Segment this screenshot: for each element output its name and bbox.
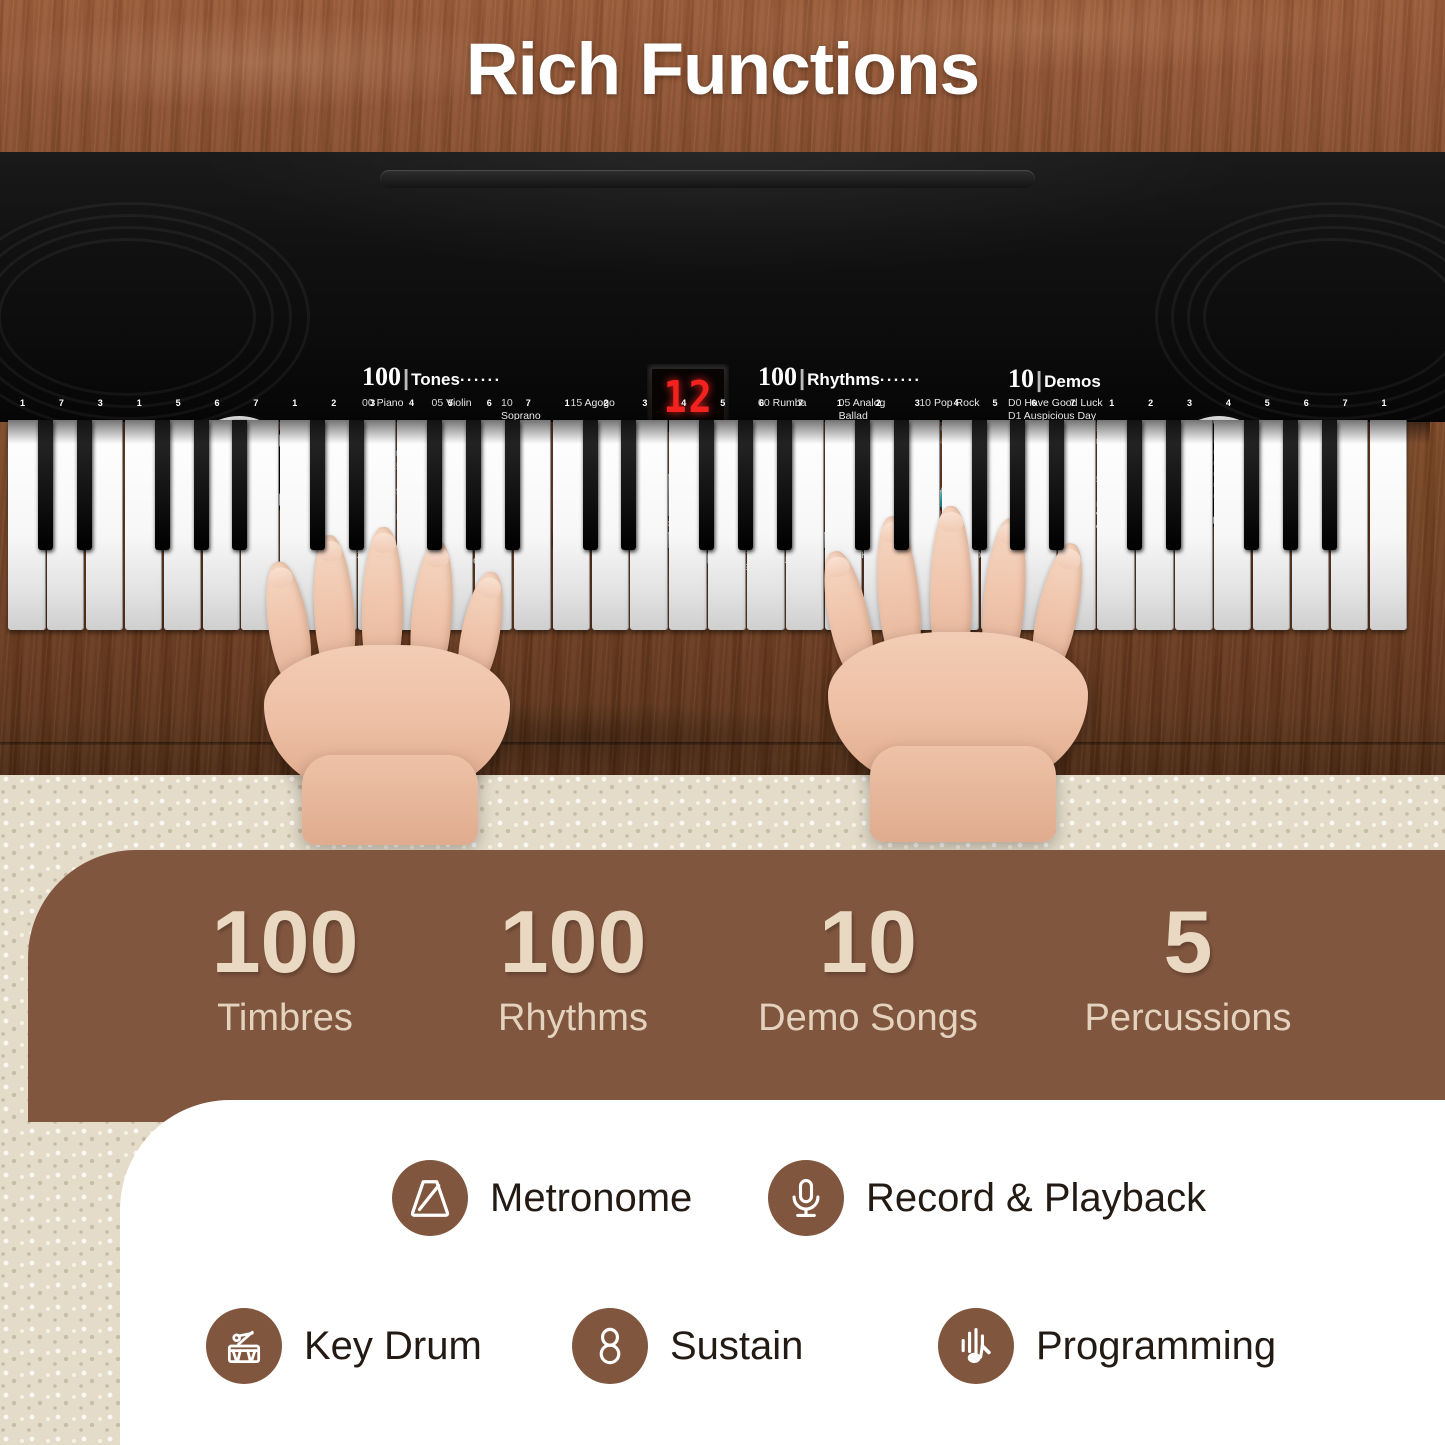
stat-item: 5 Percussions bbox=[1028, 898, 1348, 1044]
key-number: 1 bbox=[20, 398, 25, 408]
key-number: 3 bbox=[370, 398, 375, 408]
rhythms-count: 100 bbox=[758, 362, 797, 391]
key-number: 6 bbox=[759, 398, 764, 408]
page-title: Rich Functions bbox=[0, 28, 1445, 111]
stats-banner: 100 Timbres 100 Rhythms 10 Demo Songs 5 … bbox=[28, 850, 1445, 1122]
black-key[interactable] bbox=[232, 420, 247, 550]
stat-caption: Rhythms bbox=[428, 992, 718, 1044]
key-number: 1 bbox=[565, 398, 570, 408]
wood-plank-seam bbox=[0, 742, 1445, 745]
key-number: 5 bbox=[176, 398, 181, 408]
tones-dots: ······ bbox=[460, 372, 502, 389]
black-key[interactable] bbox=[38, 420, 53, 550]
feature-label: Key Drum bbox=[304, 1324, 482, 1369]
drum-icon bbox=[206, 1308, 282, 1384]
key-number: 1 bbox=[292, 398, 297, 408]
key-number: 1 bbox=[1109, 398, 1114, 408]
key-number: 2 bbox=[876, 398, 881, 408]
key-number: 5 bbox=[720, 398, 725, 408]
key-number: 1 bbox=[137, 398, 142, 408]
demos-divider: | bbox=[1034, 367, 1044, 392]
demos-label: Demos bbox=[1044, 372, 1101, 391]
stat-number: 100 bbox=[140, 898, 430, 986]
key-number: 4 bbox=[1226, 398, 1231, 408]
white-key[interactable] bbox=[241, 420, 279, 630]
rhythms-dots: ······ bbox=[880, 372, 922, 389]
key-number: 1 bbox=[837, 398, 842, 408]
black-key[interactable] bbox=[77, 420, 92, 550]
key-number: 3 bbox=[642, 398, 647, 408]
feature-label: Record & Playback bbox=[866, 1176, 1206, 1221]
feature-label: Programming bbox=[1036, 1324, 1276, 1369]
key-number: 7 bbox=[1343, 398, 1348, 408]
stat-item: 100 Timbres bbox=[140, 898, 430, 1044]
key-number: 3 bbox=[98, 398, 103, 408]
feature-label: Sustain bbox=[670, 1324, 803, 1369]
key-number: 7 bbox=[798, 398, 803, 408]
feature-programming: Programming bbox=[938, 1308, 1276, 1384]
stat-number: 10 bbox=[718, 898, 1018, 986]
black-key[interactable] bbox=[1166, 420, 1181, 550]
black-key[interactable] bbox=[427, 420, 442, 550]
key-number: 6 bbox=[487, 398, 492, 408]
feature-key-drum: Key Drum bbox=[206, 1308, 482, 1384]
black-key[interactable] bbox=[855, 420, 870, 550]
black-key[interactable] bbox=[349, 420, 364, 550]
black-key[interactable] bbox=[1010, 420, 1025, 550]
black-key[interactable] bbox=[1322, 420, 1337, 550]
black-key[interactable] bbox=[621, 420, 636, 550]
white-key[interactable] bbox=[1370, 420, 1408, 630]
key-number-strip: 173156712345671234567123456712345671 bbox=[0, 398, 1445, 418]
black-key[interactable] bbox=[1244, 420, 1259, 550]
stat-number: 5 bbox=[1028, 898, 1348, 986]
electronic-keyboard: 100|Tones······ 00 Piano05 Violin10 Sopr… bbox=[0, 152, 1445, 657]
key-number: 4 bbox=[681, 398, 686, 408]
key-number: 2 bbox=[604, 398, 609, 408]
key-number: 2 bbox=[331, 398, 336, 408]
features-panel: Metronome Record & Playback Key Drum bbox=[120, 1100, 1445, 1445]
white-key[interactable] bbox=[630, 420, 668, 630]
key-number: 4 bbox=[954, 398, 959, 408]
black-key[interactable] bbox=[972, 420, 987, 550]
key-number: 6 bbox=[1031, 398, 1036, 408]
black-key[interactable] bbox=[505, 420, 520, 550]
black-key[interactable] bbox=[894, 420, 909, 550]
stat-caption: Percussions bbox=[1028, 992, 1348, 1044]
key-number: 5 bbox=[448, 398, 453, 408]
black-key[interactable] bbox=[1283, 420, 1298, 550]
key-number: 3 bbox=[915, 398, 920, 408]
black-key[interactable] bbox=[194, 420, 209, 550]
key-number: 7 bbox=[1070, 398, 1075, 408]
black-key[interactable] bbox=[1127, 420, 1142, 550]
stat-item: 10 Demo Songs bbox=[718, 898, 1018, 1044]
microphone-icon bbox=[768, 1160, 844, 1236]
black-key[interactable] bbox=[583, 420, 598, 550]
black-key[interactable] bbox=[699, 420, 714, 550]
piano-keys[interactable] bbox=[8, 420, 1430, 630]
demos-heading: 10|Demos bbox=[1008, 364, 1198, 394]
stat-caption: Timbres bbox=[140, 992, 430, 1044]
key-number: 3 bbox=[1187, 398, 1192, 408]
key-number: 5 bbox=[993, 398, 998, 408]
feature-record-playback: Record & Playback bbox=[768, 1160, 1206, 1236]
key-number: 2 bbox=[1148, 398, 1153, 408]
left-speaker-housing bbox=[0, 152, 320, 420]
rhythms-heading: 100|Rhythms······ bbox=[758, 362, 986, 392]
tones-heading: 100|Tones······ bbox=[362, 362, 624, 392]
demos-count: 10 bbox=[1008, 364, 1034, 393]
black-key[interactable] bbox=[310, 420, 325, 550]
black-key[interactable] bbox=[777, 420, 792, 550]
black-key[interactable] bbox=[155, 420, 170, 550]
key-number: 6 bbox=[1304, 398, 1309, 408]
key-number: 7 bbox=[253, 398, 258, 408]
stat-item: 100 Rhythms bbox=[428, 898, 718, 1044]
metronome-icon bbox=[392, 1160, 468, 1236]
sustain-icon bbox=[572, 1308, 648, 1384]
key-number: 1 bbox=[1382, 398, 1387, 408]
rhythms-divider: | bbox=[797, 365, 807, 390]
key-number: 4 bbox=[409, 398, 414, 408]
tones-count: 100 bbox=[362, 362, 401, 391]
black-key[interactable] bbox=[738, 420, 753, 550]
stat-caption: Demo Songs bbox=[718, 992, 1018, 1044]
tones-divider: | bbox=[401, 365, 411, 390]
stat-number: 100 bbox=[428, 898, 718, 986]
feature-label: Metronome bbox=[490, 1176, 692, 1221]
key-number: 6 bbox=[215, 398, 220, 408]
black-key[interactable] bbox=[466, 420, 481, 550]
keyboard-handle-slot bbox=[380, 170, 1035, 188]
programming-icon bbox=[938, 1308, 1014, 1384]
key-number: 7 bbox=[59, 398, 64, 408]
tones-label: Tones bbox=[411, 370, 460, 389]
feature-sustain: Sustain bbox=[572, 1308, 803, 1384]
rhythms-label: Rhythms bbox=[807, 370, 880, 389]
key-number: 7 bbox=[526, 398, 531, 408]
black-key[interactable] bbox=[1049, 420, 1064, 550]
feature-metronome: Metronome bbox=[392, 1160, 692, 1236]
key-number: 5 bbox=[1265, 398, 1270, 408]
